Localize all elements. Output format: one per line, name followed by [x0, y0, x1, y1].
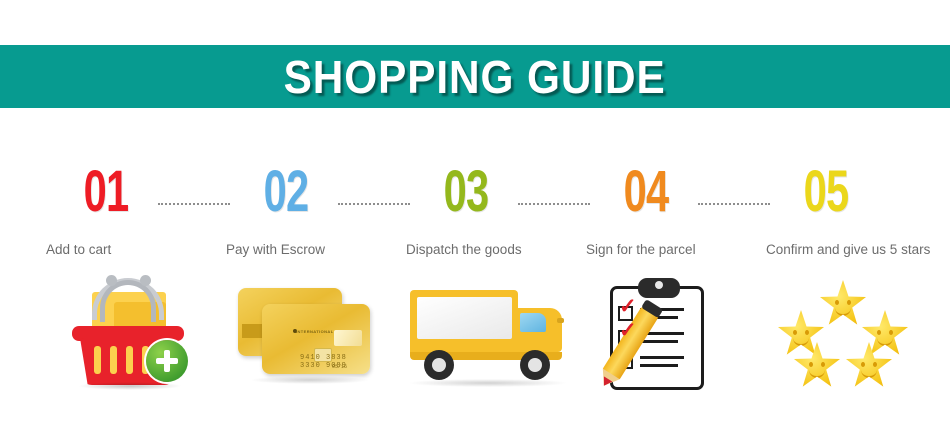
basket-slat [110, 346, 117, 374]
smiley-star-icon [820, 280, 866, 326]
star-eye [877, 330, 881, 335]
clipboard-line [640, 356, 684, 359]
star-eye [873, 362, 877, 367]
step-item-04: 04 Sign for the parcel [580, 150, 770, 405]
star-eye [821, 362, 825, 367]
clipboard-line [640, 340, 678, 343]
star-eye [809, 362, 813, 367]
step-number-01: 01 [53, 163, 159, 221]
clipboard-clip [638, 278, 680, 298]
star-eye [805, 330, 809, 335]
step-item-05: 05 Confirm and give us 5 stars [760, 150, 950, 405]
basket-shadow [78, 382, 182, 390]
star-mouth [861, 368, 877, 378]
card-hologram [334, 330, 362, 346]
clipboard-checklist-icon: ✓ ✓ [580, 276, 750, 396]
step-label-04: Sign for the parcel [586, 242, 766, 258]
card-brand-label: INTERNATIONAL [296, 329, 334, 334]
star-eye [861, 362, 865, 367]
basket-slat [94, 346, 101, 374]
star-eye [847, 300, 851, 305]
star-mouth [809, 368, 825, 378]
star-eye [793, 330, 797, 335]
star-mouth [835, 306, 851, 316]
page-banner: SHOPPING GUIDE [0, 45, 950, 108]
step-number-04: 04 [593, 163, 699, 221]
delivery-truck-icon [400, 276, 570, 396]
star-eye [889, 330, 893, 335]
truck-mirror [557, 318, 564, 323]
step-number-05: 05 [773, 163, 879, 221]
five-stars-icon [760, 276, 930, 396]
step-label-03: Dispatch the goods [406, 242, 586, 258]
step-item-02: 02 Pay with Escrow INTERNATIONAL 9410 38… [220, 150, 410, 405]
credit-cards-icon: INTERNATIONAL 9410 3838 3330 9089 05/16 [220, 276, 390, 396]
add-plus-icon [146, 340, 188, 382]
basket-knob-right [140, 275, 151, 286]
check-mark-2-icon: ✓ [619, 324, 638, 341]
clipboard-line [640, 364, 678, 367]
smiley-star-icon [794, 342, 840, 388]
truck-wheel-front [520, 350, 550, 380]
check-mark-1-icon: ✓ [619, 300, 638, 317]
star-mouth [793, 336, 809, 346]
step-number-02: 02 [233, 163, 339, 221]
step-item-01: 01 Add to cart [40, 150, 230, 405]
star-eye [835, 300, 839, 305]
cards-shadow [250, 376, 370, 384]
basket-knob-left [106, 275, 117, 286]
steps-row: 01 Add to cart [0, 150, 950, 405]
star-mouth [877, 336, 893, 346]
shopping-basket-icon [40, 276, 210, 396]
truck-window [520, 313, 546, 332]
card-expiry: 05/16 [332, 364, 347, 370]
step-label-01: Add to cart [46, 242, 226, 258]
basket-slat [126, 346, 133, 374]
credit-card-front: INTERNATIONAL 9410 3838 3330 9089 05/16 [262, 304, 370, 374]
step-label-02: Pay with Escrow [226, 242, 406, 258]
truck-wheel-rear [424, 350, 454, 380]
smiley-star-icon [846, 342, 892, 388]
truck-side-panel [417, 297, 512, 339]
page-title: SHOPPING GUIDE [284, 54, 666, 100]
step-item-03: 03 Dispatch the goods [400, 150, 590, 405]
step-label-05: Confirm and give us 5 stars [766, 242, 946, 258]
step-number-03: 03 [413, 163, 519, 221]
truck-shadow [410, 379, 566, 387]
